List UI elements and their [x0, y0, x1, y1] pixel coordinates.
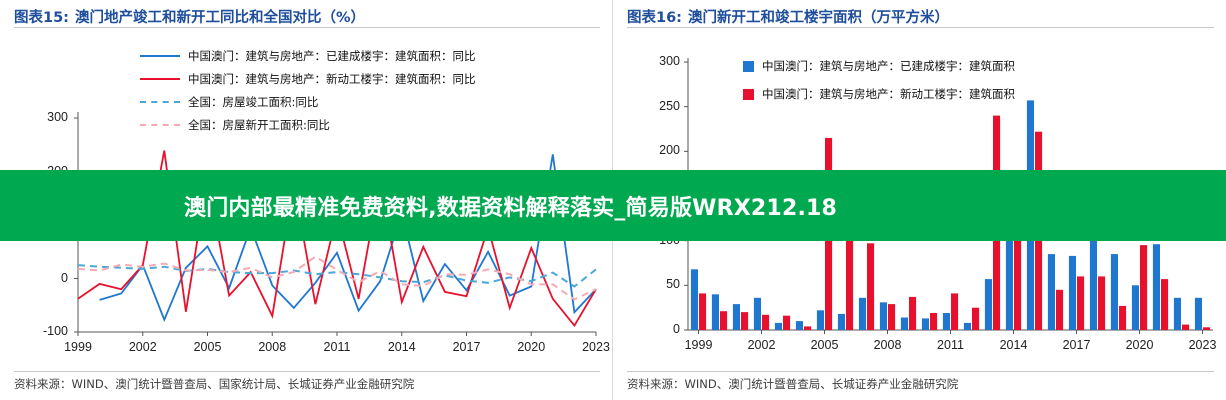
- chart-16-xtick: 1999: [674, 338, 724, 352]
- chart-16-bar: [930, 313, 937, 330]
- chart-16-bar: [1195, 298, 1202, 330]
- chart-16-bar: [1119, 306, 1126, 330]
- chart-16-xtick: 2017: [1052, 338, 1102, 352]
- chart-15-xtick: 1999: [53, 340, 103, 354]
- chart-16-bar: [804, 326, 811, 330]
- chart-16-bar: [909, 297, 916, 330]
- chart-15-xtick: 2014: [377, 340, 427, 354]
- chart-16-bar: [888, 304, 895, 330]
- chart-16-bar: [859, 298, 866, 330]
- chart-16-bar: [699, 293, 706, 330]
- chart-16-bar: [951, 293, 958, 330]
- chart-15-xtick: 2017: [442, 340, 492, 354]
- chart-16-bar: [775, 323, 782, 330]
- chart-16-xtick: 2020: [1115, 338, 1165, 352]
- chart-16-bar: [922, 318, 929, 330]
- chart-16-source-divider: [627, 371, 1214, 372]
- chart-16-bar: [972, 308, 979, 330]
- chart-16-xtick: 2023: [1178, 338, 1226, 352]
- chart-16-ytick: 300: [640, 54, 680, 68]
- chart-16-bar: [1098, 276, 1105, 330]
- chart-15-xtick: 2008: [247, 340, 297, 354]
- chart-16-ytick: 200: [640, 143, 680, 157]
- chart-16-bar: [838, 314, 845, 330]
- page-root: 图表15:澳门地产竣工和新开工同比和全国对比（%） 中国澳门：建筑与房地产：已建…: [0, 0, 1226, 400]
- chart-16-bar: [754, 298, 761, 330]
- chart-15-xtick: 2020: [506, 340, 556, 354]
- chart-15-source: 资料来源：WIND、澳门统计暨普查局、国家统计局、长城证券产业金融研究院: [14, 376, 414, 392]
- chart-16-bar: [720, 311, 727, 330]
- watermark-text: 澳门内部最精准免费资料,数据资料解释落实_简易版WRX212.18: [0, 170, 1226, 241]
- chart-15-xtick: 2002: [118, 340, 168, 354]
- chart-16-bar: [1203, 327, 1210, 330]
- chart-16-xtick: 2008: [863, 338, 913, 352]
- chart-16-ytick: 50: [640, 277, 680, 291]
- chart-16-bar: [985, 279, 992, 330]
- chart-16-bar: [1161, 279, 1168, 330]
- chart-16-xtick: 2011: [926, 338, 976, 352]
- chart-16-bar: [867, 243, 874, 330]
- chart-16-bar: [1111, 254, 1118, 330]
- chart-16-bar: [1069, 256, 1076, 330]
- chart-16-xtick: 2005: [800, 338, 850, 352]
- chart-16-xtick: 2014: [989, 338, 1039, 352]
- chart-16-bar: [741, 312, 748, 330]
- chart-16-bar: [1140, 245, 1147, 330]
- chart-16-bar: [964, 323, 971, 330]
- chart-16-bar: [880, 302, 887, 330]
- chart-16-bar: [796, 321, 803, 330]
- chart-15-source-divider: [14, 371, 600, 372]
- chart-16-bar: [1056, 290, 1063, 330]
- chart-16-bar: [712, 294, 719, 330]
- chart-16-bar: [783, 316, 790, 330]
- chart-15-xtick: 2011: [312, 340, 362, 354]
- chart-16-bar: [733, 304, 740, 330]
- chart-16-xtick: 2002: [737, 338, 787, 352]
- chart-16-bar: [817, 310, 824, 330]
- chart-16-bar: [1182, 325, 1189, 330]
- chart-15-xtick: 2005: [183, 340, 233, 354]
- chart-16-bar: [1048, 254, 1055, 330]
- chart-16-bar: [943, 313, 950, 330]
- chart-15-ytick: -100: [28, 324, 68, 338]
- chart-16-bar: [1132, 285, 1139, 330]
- chart-16-bar: [1174, 298, 1181, 330]
- chart-16-bar: [901, 318, 908, 331]
- chart-16-ytick: 250: [640, 99, 680, 113]
- chart-16-bar: [691, 269, 698, 330]
- chart-15-ytick: 0: [28, 271, 68, 285]
- chart-15-ytick: 300: [28, 110, 68, 124]
- chart-16-ytick: 0: [640, 322, 680, 336]
- chart-16-bar: [762, 315, 769, 330]
- chart-16-bar: [1153, 244, 1160, 330]
- chart-15-series-3: [78, 257, 596, 300]
- chart-16-source: 资料来源：WIND、澳门统计暨普查局、长城证券产业金融研究院: [627, 376, 958, 392]
- chart-16-bar: [1077, 276, 1084, 330]
